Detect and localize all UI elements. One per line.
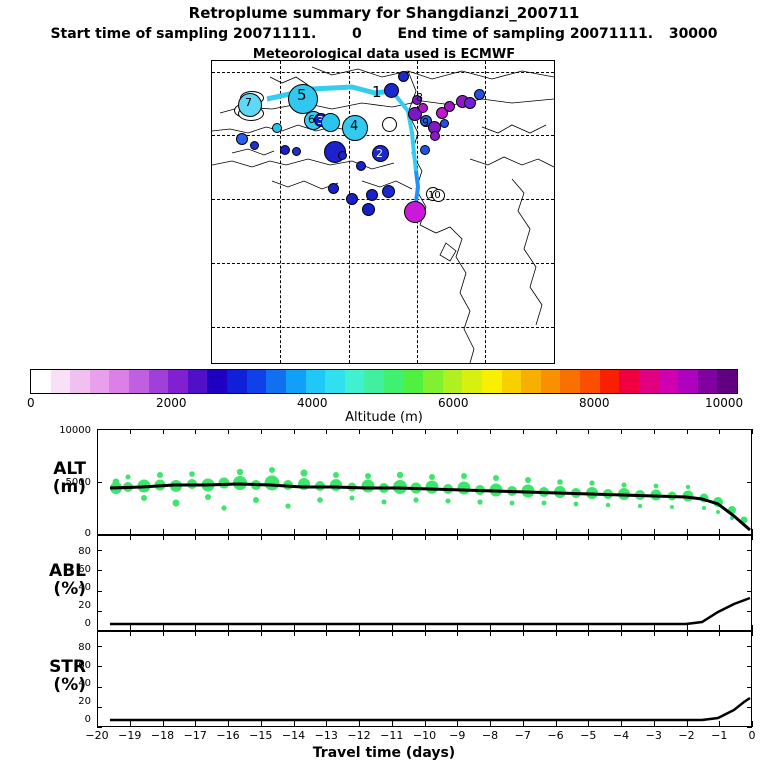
x-tick-label: −20 [83, 729, 111, 742]
alt-ytick: 5000 [47, 477, 91, 488]
colorbar-segment [502, 370, 522, 393]
map-marker [346, 193, 358, 205]
x-tick-mark [392, 429, 393, 434]
colorbar-segment [619, 370, 639, 393]
x-tick-mark [425, 721, 426, 727]
colorbar [30, 369, 738, 394]
y-tick-mark [97, 482, 102, 483]
colorbar-segment [247, 370, 267, 393]
y-tick-mark [747, 646, 752, 647]
y-tick-mark [97, 707, 102, 708]
colorbar-segment [384, 370, 404, 393]
colorbar-segment [541, 370, 561, 393]
x-tick-mark [425, 429, 426, 434]
x-tick-mark [752, 429, 753, 434]
x-tick-mark [326, 535, 327, 540]
map-marker [430, 131, 440, 141]
x-tick-mark [523, 535, 524, 540]
x-tick-mark [752, 721, 753, 727]
x-tick-mark [457, 535, 458, 540]
x-tick-mark [654, 429, 655, 434]
x-tick-label: −10 [411, 729, 439, 742]
x-tick-mark [425, 535, 426, 540]
colorbar-segment [227, 370, 247, 393]
x-tick-mark [621, 721, 622, 727]
x-tick-mark [261, 535, 262, 540]
map-marker [280, 145, 290, 155]
abl-ytick: 60 [47, 564, 91, 575]
colorbar-tick: 2000 [156, 396, 187, 410]
map-marker [382, 117, 397, 132]
colorbar-segment [90, 370, 110, 393]
x-tick-label: −1 [705, 729, 733, 742]
colorbar-segment [404, 370, 424, 393]
colorbar-tick: 4000 [297, 396, 328, 410]
y-tick-mark [747, 535, 752, 536]
x-tick-mark [163, 429, 164, 434]
x-tick-label: −18 [149, 729, 177, 742]
x-tick-label: −17 [181, 729, 209, 742]
colorbar-tick: 0 [27, 396, 35, 410]
x-tick-mark [490, 721, 491, 727]
abl-ytick: 80 [47, 546, 91, 557]
y-tick-mark [747, 570, 752, 571]
colorbar-segment [698, 370, 718, 393]
end-time-label: End time of sampling 20071111. [398, 26, 654, 42]
x-tick-label: −4 [607, 729, 635, 742]
x-tick-mark [588, 429, 589, 434]
y-tick-mark [97, 687, 102, 688]
colorbar-segment [109, 370, 129, 393]
x-tick-label: −13 [312, 729, 340, 742]
x-tick-mark [228, 721, 229, 727]
map-panel: 7 5 6 3 4 2 1 8 9 10 [211, 60, 555, 364]
map-marker [474, 89, 485, 100]
map-marker-label: 10 [428, 190, 441, 201]
y-tick-mark [97, 570, 102, 571]
x-tick-mark [687, 535, 688, 540]
x-tick-label: −6 [542, 729, 570, 742]
x-tick-mark [588, 721, 589, 727]
x-tick-label: −19 [116, 729, 144, 742]
colorbar-segment [462, 370, 482, 393]
map-marker [382, 185, 395, 198]
colorbar-tick: 6000 [438, 396, 469, 410]
colorbar-segment [482, 370, 502, 393]
x-tick-mark [752, 631, 753, 636]
x-tick-mark [294, 429, 295, 434]
map-marker [366, 189, 378, 201]
colorbar-segment [306, 370, 326, 393]
colorbar-ticks: 0 2000 4000 6000 8000 10000 [0, 396, 768, 410]
y-tick-mark [97, 646, 102, 647]
colorbar-segment [443, 370, 463, 393]
map-marker [444, 101, 455, 112]
x-tick-mark [687, 429, 688, 434]
map-trajectory-line [212, 61, 554, 363]
colorbar-segment [207, 370, 227, 393]
start-time-label: Start time of sampling 20071111. [50, 26, 316, 42]
x-tick-label: −9 [443, 729, 471, 742]
colorbar-segment [521, 370, 541, 393]
colorbar-segment [286, 370, 306, 393]
map-marker [418, 103, 428, 113]
map-marker [404, 201, 426, 223]
x-tick-mark [359, 429, 360, 434]
x-tick-mark [719, 535, 720, 540]
map-marker-label: 2 [376, 147, 383, 160]
colorbar-segment [659, 370, 679, 393]
map-marker [362, 203, 375, 216]
colorbar-tick: 10000 [705, 396, 743, 410]
y-tick-mark [97, 666, 102, 667]
y-tick-mark [747, 591, 752, 592]
page-title: Retroplume summary for Shangdianzi_20071… [0, 4, 768, 22]
colorbar-segment [717, 370, 737, 393]
x-tick-mark [359, 535, 360, 540]
map-marker-label: 7 [245, 96, 252, 109]
x-tick-mark [392, 721, 393, 727]
map-marker-label: 5 [297, 86, 307, 104]
x-tick-mark [294, 721, 295, 727]
x-tick-mark [326, 721, 327, 727]
colorbar-segment [168, 370, 188, 393]
x-axis-title: Travel time (days) [0, 745, 768, 761]
x-tick-label: −11 [378, 729, 406, 742]
y-tick-mark [97, 535, 102, 536]
str-ytick: 0 [47, 714, 91, 725]
map-marker [292, 147, 301, 156]
x-tick-mark [425, 631, 426, 636]
x-tick-label: −7 [509, 729, 537, 742]
y-tick-mark [747, 611, 752, 612]
y-tick-mark [747, 429, 752, 430]
colorbar-segment [639, 370, 659, 393]
colorbar-segment [423, 370, 443, 393]
x-tick-mark [163, 631, 164, 636]
x-tick-label: −3 [640, 729, 668, 742]
x-tick-mark [294, 631, 295, 636]
map-marker [250, 141, 259, 150]
str-series [98, 632, 751, 726]
map-marker [356, 161, 366, 171]
map-marker [272, 123, 282, 133]
x-tick-mark [228, 631, 229, 636]
x-tick-mark [130, 631, 131, 636]
y-tick-mark [747, 727, 752, 728]
x-tick-mark [556, 721, 557, 727]
x-tick-mark [261, 631, 262, 636]
colorbar-segment [345, 370, 365, 393]
abl-ytick: 20 [47, 600, 91, 611]
x-tick-mark [261, 429, 262, 434]
x-tick-mark [195, 429, 196, 434]
colorbar-segment [600, 370, 620, 393]
abl-plot [97, 535, 752, 631]
x-tick-mark [654, 631, 655, 636]
x-tick-mark [359, 721, 360, 727]
x-tick-mark [326, 429, 327, 434]
y-tick-mark [747, 482, 752, 483]
x-tick-mark [719, 721, 720, 727]
x-tick-mark [457, 631, 458, 636]
x-tick-mark [195, 631, 196, 636]
x-tick-mark [654, 535, 655, 540]
x-tick-label: 0 [738, 729, 766, 742]
x-tick-labels: −20−19−18−17−16−15−14−13−12−11−10−9−8−7−… [0, 729, 768, 743]
x-tick-mark [457, 429, 458, 434]
colorbar-segment [678, 370, 698, 393]
colorbar-label: Altitude (m) [0, 410, 768, 425]
x-tick-mark [490, 535, 491, 540]
str-ytick: 40 [47, 678, 91, 689]
x-tick-mark [228, 535, 229, 540]
x-tick-mark [130, 721, 131, 727]
y-tick-mark [747, 631, 752, 632]
alt-ytick: 10000 [47, 425, 91, 436]
x-tick-mark [752, 535, 753, 540]
x-tick-mark [556, 429, 557, 434]
map-marker [440, 119, 449, 128]
map-marker [420, 145, 430, 155]
sampling-times: Start time of sampling 20071111. 0 End t… [0, 26, 768, 42]
x-tick-mark [556, 535, 557, 540]
x-tick-mark [392, 535, 393, 540]
x-tick-mark [163, 721, 164, 727]
x-tick-label: −16 [214, 729, 242, 742]
x-tick-mark [490, 429, 491, 434]
str-ytick: 80 [47, 642, 91, 653]
y-tick-mark [747, 550, 752, 551]
map-marker [384, 83, 399, 98]
y-tick-mark [97, 727, 102, 728]
alt-plot [97, 429, 752, 535]
x-tick-label: −5 [574, 729, 602, 742]
x-tick-mark [457, 721, 458, 727]
x-tick-mark [130, 535, 131, 540]
colorbar-segment [560, 370, 580, 393]
x-tick-mark [523, 429, 524, 434]
alt-ytick: 0 [47, 528, 91, 539]
end-time-value: 30000 [669, 26, 718, 42]
x-tick-mark [588, 631, 589, 636]
x-tick-mark [621, 429, 622, 434]
x-tick-mark [719, 631, 720, 636]
x-tick-mark [621, 535, 622, 540]
abl-series [98, 536, 751, 630]
x-tick-mark [163, 535, 164, 540]
colorbar-segment [70, 370, 90, 393]
colorbar-segment [580, 370, 600, 393]
map-marker [328, 183, 339, 194]
y-tick-mark [97, 591, 102, 592]
x-tick-mark [359, 631, 360, 636]
x-tick-label: −8 [476, 729, 504, 742]
x-tick-mark [687, 631, 688, 636]
y-tick-mark [97, 631, 102, 632]
x-tick-mark [294, 535, 295, 540]
colorbar-segment [129, 370, 149, 393]
map-marker-label: 8 [416, 91, 423, 104]
str-plot [97, 631, 752, 727]
x-tick-label: −2 [673, 729, 701, 742]
x-tick-mark [261, 721, 262, 727]
x-tick-mark [523, 721, 524, 727]
abl-ytick: 40 [47, 582, 91, 593]
colorbar-segment [364, 370, 384, 393]
colorbar-segment [149, 370, 169, 393]
colorbar-tick: 8000 [579, 396, 610, 410]
start-time-value: 0 [352, 26, 362, 42]
y-tick-mark [747, 687, 752, 688]
y-tick-mark [747, 666, 752, 667]
x-tick-mark [228, 429, 229, 434]
x-tick-label: −14 [280, 729, 308, 742]
x-tick-mark [687, 721, 688, 727]
colorbar-segment [31, 370, 51, 393]
x-tick-mark [392, 631, 393, 636]
x-tick-mark [719, 429, 720, 434]
x-tick-mark [654, 721, 655, 727]
map-marker [398, 71, 409, 82]
map-marker [321, 113, 340, 132]
colorbar-segment [266, 370, 286, 393]
map-marker [464, 97, 476, 109]
x-tick-mark [195, 721, 196, 727]
colorbar-segment [51, 370, 71, 393]
x-tick-mark [621, 631, 622, 636]
str-ytick: 60 [47, 660, 91, 671]
x-tick-label: −12 [345, 729, 373, 742]
x-tick-label: −15 [247, 729, 275, 742]
x-tick-mark [556, 631, 557, 636]
alt-series [98, 430, 751, 534]
map-marker-label: 1 [372, 83, 382, 101]
y-tick-mark [747, 707, 752, 708]
map-marker [338, 151, 347, 160]
str-ytick: 20 [47, 696, 91, 707]
x-tick-mark [588, 535, 589, 540]
y-tick-mark [97, 429, 102, 430]
x-tick-mark [130, 429, 131, 434]
x-tick-mark [326, 631, 327, 636]
abl-ytick: 0 [47, 618, 91, 629]
colorbar-segment [325, 370, 345, 393]
x-tick-mark [523, 631, 524, 636]
map-marker-label: 4 [350, 119, 358, 134]
x-tick-mark [490, 631, 491, 636]
y-tick-mark [97, 550, 102, 551]
x-tick-mark [195, 535, 196, 540]
map-marker [236, 133, 248, 145]
colorbar-segment [188, 370, 208, 393]
y-tick-mark [97, 611, 102, 612]
